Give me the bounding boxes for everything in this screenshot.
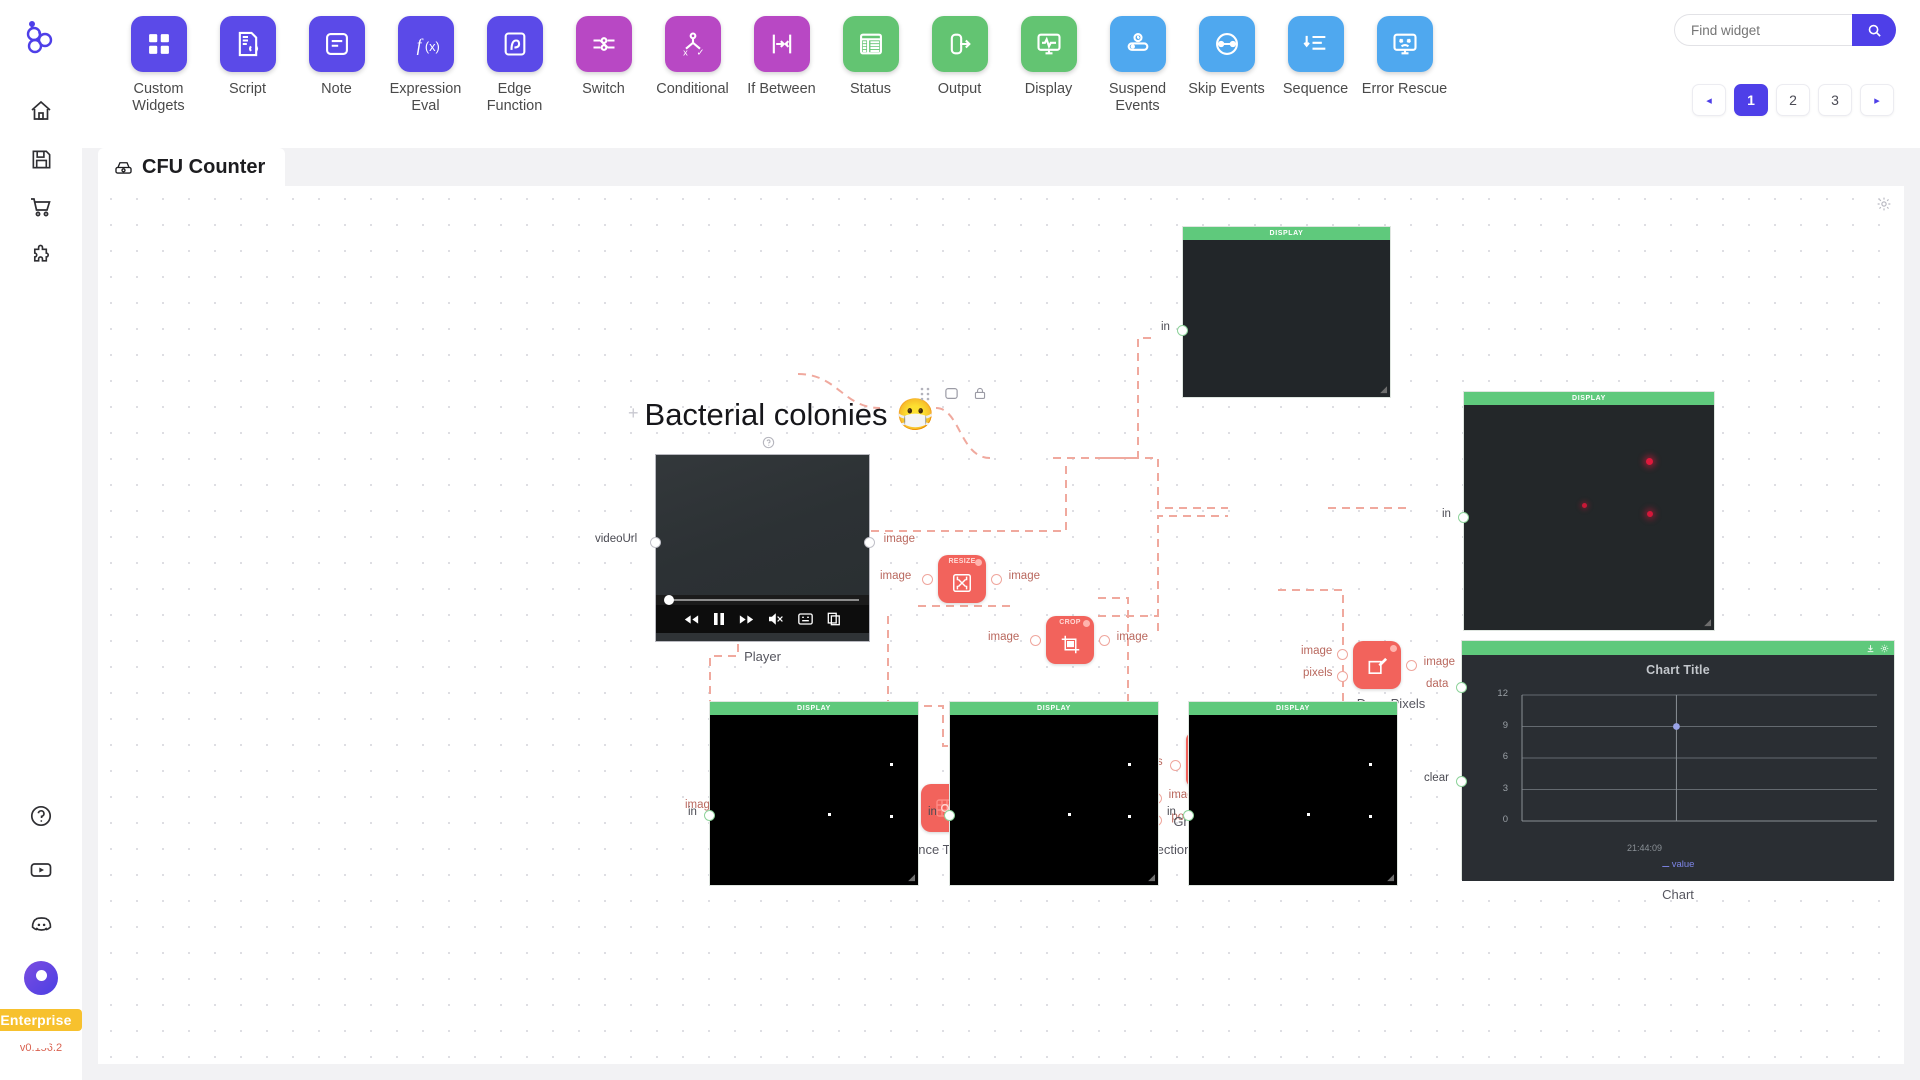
lock-icon[interactable] bbox=[973, 386, 987, 401]
tab-strip: CFU Counter bbox=[82, 148, 1920, 186]
port-label-in-image: image bbox=[1301, 645, 1332, 657]
port-label-out-image: image bbox=[1424, 656, 1455, 668]
output-icon[interactable] bbox=[932, 16, 988, 72]
port-in[interactable] bbox=[944, 810, 955, 821]
title-toolbar bbox=[920, 386, 987, 401]
draw-pixels-icon bbox=[1366, 654, 1389, 677]
port-in[interactable] bbox=[1177, 325, 1188, 336]
forward-icon[interactable] bbox=[739, 614, 754, 625]
chart-widget[interactable]: Chart Title 036912 21:44:09 ⚊ value data… bbox=[1461, 640, 1895, 880]
palette-item-sequence[interactable]: Sequence bbox=[1271, 16, 1360, 115]
chart-plot bbox=[1462, 689, 1896, 829]
node-resize-tile[interactable]: RESIZE bbox=[938, 555, 986, 603]
left-rail: Enterprise v0.156.2 bbox=[0, 0, 82, 1080]
node-crop-tile[interactable]: CROP bbox=[1046, 616, 1094, 664]
grid-icon[interactable] bbox=[131, 16, 187, 72]
port-in-videourl[interactable] bbox=[650, 537, 661, 548]
palette-item-output[interactable]: Output bbox=[915, 16, 1004, 115]
display-header: DISPLAY bbox=[1189, 702, 1397, 715]
chart-header bbox=[1462, 641, 1894, 655]
avatar-icon[interactable] bbox=[18, 955, 64, 1001]
palette-item-suspend-events[interactable]: Suspend Events bbox=[1093, 16, 1182, 115]
svg-text:(x): (x) bbox=[424, 39, 439, 54]
palette-item-label: Display bbox=[1006, 81, 1092, 98]
display-header: DISPLAY bbox=[950, 702, 1158, 715]
help-circle-icon[interactable] bbox=[18, 793, 64, 839]
display-widget-bottom-3[interactable]: DISPLAY ◢ in bbox=[1188, 701, 1398, 886]
port-out-image[interactable] bbox=[864, 537, 875, 548]
edge-function-icon[interactable] bbox=[487, 16, 543, 72]
display-widget-bottom-2[interactable]: DISPLAY ◢ in bbox=[949, 701, 1159, 886]
skip-events-icon[interactable] bbox=[1199, 16, 1255, 72]
palette-item-skip-events[interactable]: Skip Events bbox=[1182, 16, 1271, 115]
chart-y-tick: 3 bbox=[1490, 783, 1508, 794]
port-in[interactable] bbox=[1458, 512, 1469, 523]
pagination-page-2[interactable]: 2 bbox=[1776, 84, 1810, 116]
resize-grip-icon[interactable]: ◢ bbox=[1380, 384, 1387, 395]
help-circle-icon[interactable] bbox=[762, 436, 775, 449]
palette-item-label: Custom Widgets bbox=[116, 81, 202, 115]
node-draw-pixels[interactable]: image pixels image Draw Pixels bbox=[1353, 641, 1401, 689]
port-label-clear: clear bbox=[1424, 772, 1449, 784]
chart-body: Chart Title 036912 21:44:09 ⚊ value bbox=[1462, 655, 1894, 881]
port-label-in: in bbox=[928, 806, 937, 818]
display-screen bbox=[950, 715, 1158, 885]
display-widget-bottom-1[interactable]: DISPLAY ◢ in bbox=[709, 701, 919, 886]
palette-item-label: Edge Function bbox=[472, 81, 558, 115]
canvas-stage: CFU Counter bbox=[82, 148, 1920, 1080]
suspend-events-icon[interactable] bbox=[1110, 16, 1166, 72]
palette-item-label: Output bbox=[917, 81, 1003, 98]
script-file-icon[interactable] bbox=[220, 16, 276, 72]
function-icon[interactable]: f(x) bbox=[398, 16, 454, 72]
palette-item-expression-eval[interactable]: f(x)Expression Eval bbox=[381, 16, 470, 115]
node-crop[interactable]: CROP image image bbox=[1046, 616, 1094, 664]
port-in-clear[interactable] bbox=[1456, 776, 1467, 787]
palette-item-label: Expression Eval bbox=[383, 81, 469, 115]
resize-grip-icon[interactable]: ◢ bbox=[1387, 872, 1394, 883]
node-status-dot bbox=[1390, 645, 1397, 652]
resize-icon bbox=[951, 572, 973, 594]
pagination: ◂123▸ bbox=[1692, 84, 1894, 116]
port-out-image[interactable] bbox=[1406, 660, 1417, 671]
resize-grip-icon[interactable]: ◢ bbox=[908, 872, 915, 883]
brand-logo-icon[interactable] bbox=[15, 14, 67, 66]
node-status-dot bbox=[1083, 620, 1090, 627]
chart-y-tick: 9 bbox=[1490, 720, 1508, 731]
download-icon[interactable] bbox=[1866, 644, 1875, 653]
flow-icon bbox=[114, 158, 133, 177]
palette-item-label: Error Rescue bbox=[1362, 81, 1448, 98]
port-label-in: in bbox=[688, 806, 697, 818]
gear-icon[interactable] bbox=[1876, 196, 1892, 212]
port-in-data[interactable] bbox=[1456, 682, 1467, 693]
tab-cfu-counter[interactable]: CFU Counter bbox=[98, 148, 285, 186]
node-resize[interactable]: RESIZE image image bbox=[938, 555, 986, 603]
port-in-pixels[interactable] bbox=[1337, 671, 1348, 682]
frame-icon[interactable] bbox=[944, 386, 959, 401]
palette-item-script[interactable]: Script bbox=[203, 16, 292, 115]
cart-icon[interactable] bbox=[18, 184, 64, 230]
top-toolbar: Custom WidgetsScriptNotef(x)Expression E… bbox=[82, 0, 1920, 148]
palette-item-conditional[interactable]: x✓Conditional bbox=[648, 16, 737, 115]
chart-y-tick: 0 bbox=[1490, 814, 1508, 825]
flow-title-text: Bacterial colonies 😷 bbox=[645, 397, 935, 432]
port-in-image[interactable] bbox=[922, 574, 933, 585]
search-button[interactable] bbox=[1852, 14, 1896, 46]
discord-icon[interactable] bbox=[18, 901, 64, 947]
pause-icon[interactable] bbox=[713, 612, 725, 626]
port-in[interactable] bbox=[1183, 810, 1194, 821]
chart-x-tick: 21:44:09 bbox=[1627, 843, 1662, 853]
palette-item-label: Sequence bbox=[1273, 81, 1359, 98]
palette-item-status[interactable]: Status bbox=[826, 16, 915, 115]
chart-y-tick: 12 bbox=[1490, 688, 1508, 699]
port-label-data: data bbox=[1426, 678, 1448, 690]
palette-item-note[interactable]: Note bbox=[292, 16, 381, 115]
palette-item-label: Suspend Events bbox=[1095, 81, 1181, 115]
display-screen bbox=[1189, 715, 1397, 885]
rail-primary-nav bbox=[18, 88, 64, 278]
svg-text:✓: ✓ bbox=[696, 48, 704, 58]
chart-y-tick: 6 bbox=[1490, 751, 1508, 762]
resize-grip-icon[interactable]: ◢ bbox=[1704, 617, 1711, 628]
port-label-in: in bbox=[1442, 508, 1451, 520]
port-label-in-image: image bbox=[880, 570, 911, 582]
pagination-page-1[interactable]: 1 bbox=[1734, 84, 1768, 116]
chart-legend-label: value bbox=[1672, 859, 1695, 870]
node-player[interactable]: videoUrl image Player bbox=[655, 454, 870, 642]
display-widget-top[interactable]: DISPLAY ◢ in bbox=[1182, 226, 1391, 398]
rewind-icon[interactable] bbox=[684, 614, 699, 625]
crop-icon bbox=[1060, 634, 1081, 655]
palette-item-display[interactable]: Display bbox=[1004, 16, 1093, 115]
save-icon[interactable] bbox=[18, 136, 64, 182]
palette-item-edge-function[interactable]: Edge Function bbox=[470, 16, 559, 115]
palette-item-switch[interactable]: Switch bbox=[559, 16, 648, 115]
port-in-image[interactable] bbox=[1337, 649, 1348, 660]
drag-handle-icon[interactable] bbox=[920, 387, 930, 401]
chart-title: Chart Title bbox=[1462, 655, 1894, 677]
enterprise-badge: Enterprise bbox=[0, 1009, 82, 1031]
palette-item-label: If Between bbox=[739, 81, 825, 98]
pagination-prev[interactable]: ◂ bbox=[1692, 84, 1726, 116]
port-label-image: image bbox=[884, 533, 915, 545]
port-label-in-pixels: pixels bbox=[1303, 667, 1332, 679]
home-icon[interactable] bbox=[18, 88, 64, 134]
port-label-in: in bbox=[1161, 321, 1170, 333]
if-between-icon[interactable] bbox=[754, 16, 810, 72]
port-in-points[interactable] bbox=[1170, 760, 1181, 771]
tab-label: CFU Counter bbox=[142, 156, 265, 179]
palette-item-if-between[interactable]: If Between bbox=[737, 16, 826, 115]
rail-secondary-nav: Enterprise v0.156.2 bbox=[0, 793, 82, 1054]
palette-item-custom-widgets[interactable]: Custom Widgets bbox=[114, 16, 203, 115]
mute-icon[interactable] bbox=[768, 612, 784, 626]
display-widget-right[interactable]: DISPLAY ◢ in bbox=[1463, 391, 1715, 631]
palette-item-label: Switch bbox=[561, 81, 647, 98]
svg-text:x: x bbox=[683, 48, 688, 58]
copy-icon[interactable] bbox=[827, 612, 841, 626]
port-in-image[interactable] bbox=[1030, 635, 1041, 646]
node-label-player: Player bbox=[744, 649, 781, 664]
flow-canvas[interactable]: +Bacterial colonies 😷 bbox=[98, 186, 1904, 1064]
puzzle-icon[interactable] bbox=[18, 232, 64, 278]
port-label-in-image: image bbox=[988, 631, 1019, 643]
pagination-page-3[interactable]: 3 bbox=[1818, 84, 1852, 116]
display-header: DISPLAY bbox=[1464, 392, 1714, 405]
resize-grip-icon[interactable]: ◢ bbox=[1148, 872, 1155, 883]
display-screen bbox=[710, 715, 918, 885]
palette-item-error-rescue[interactable]: Error Rescue bbox=[1360, 16, 1449, 115]
palette-item-label: Status bbox=[828, 81, 914, 98]
gear-icon[interactable] bbox=[1880, 644, 1889, 653]
display-screen bbox=[1183, 240, 1390, 397]
palette-item-label: Conditional bbox=[650, 81, 736, 98]
player-controls bbox=[656, 605, 869, 633]
palette-item-label: Skip Events bbox=[1184, 81, 1270, 98]
fullscreen-icon[interactable] bbox=[798, 612, 813, 626]
svg-text:f: f bbox=[416, 35, 423, 55]
node-status-dot bbox=[975, 559, 982, 566]
port-label-videourl: videoUrl bbox=[595, 533, 637, 545]
display-header: DISPLAY bbox=[1183, 227, 1390, 240]
display-screen bbox=[1464, 405, 1714, 630]
palette-item-label: Note bbox=[294, 81, 380, 98]
player-seek-slider[interactable] bbox=[656, 595, 869, 605]
plus-icon[interactable]: + bbox=[628, 403, 639, 423]
port-out-image[interactable] bbox=[1099, 635, 1110, 646]
widget-palette: Custom WidgetsScriptNotef(x)Expression E… bbox=[114, 16, 1449, 115]
node-draw-pixels-tile[interactable] bbox=[1353, 641, 1401, 689]
conditional-icon[interactable]: x✓ bbox=[665, 16, 721, 72]
youtube-icon[interactable] bbox=[18, 847, 64, 893]
error-rescue-icon[interactable] bbox=[1377, 16, 1433, 72]
note-icon[interactable] bbox=[309, 16, 365, 72]
port-in[interactable] bbox=[704, 810, 715, 821]
port-out-image[interactable] bbox=[991, 574, 1002, 585]
search-widget bbox=[1674, 14, 1896, 46]
pagination-next[interactable]: ▸ bbox=[1860, 84, 1894, 116]
node-label-chart: Chart bbox=[1662, 887, 1694, 902]
switch-icon[interactable] bbox=[576, 16, 632, 72]
display-monitor-icon[interactable] bbox=[1021, 16, 1077, 72]
status-table-icon[interactable] bbox=[843, 16, 899, 72]
chart-legend[interactable]: ⚊ value bbox=[1462, 859, 1894, 870]
page-title[interactable]: +Bacterial colonies 😷 bbox=[628, 396, 935, 433]
port-label-out-image: image bbox=[1009, 570, 1040, 582]
display-header: DISPLAY bbox=[710, 702, 918, 715]
port-label-in: in bbox=[1167, 806, 1176, 818]
palette-item-label: Script bbox=[205, 81, 291, 98]
port-label-out-image: image bbox=[1117, 631, 1148, 643]
sequence-icon[interactable] bbox=[1288, 16, 1344, 72]
